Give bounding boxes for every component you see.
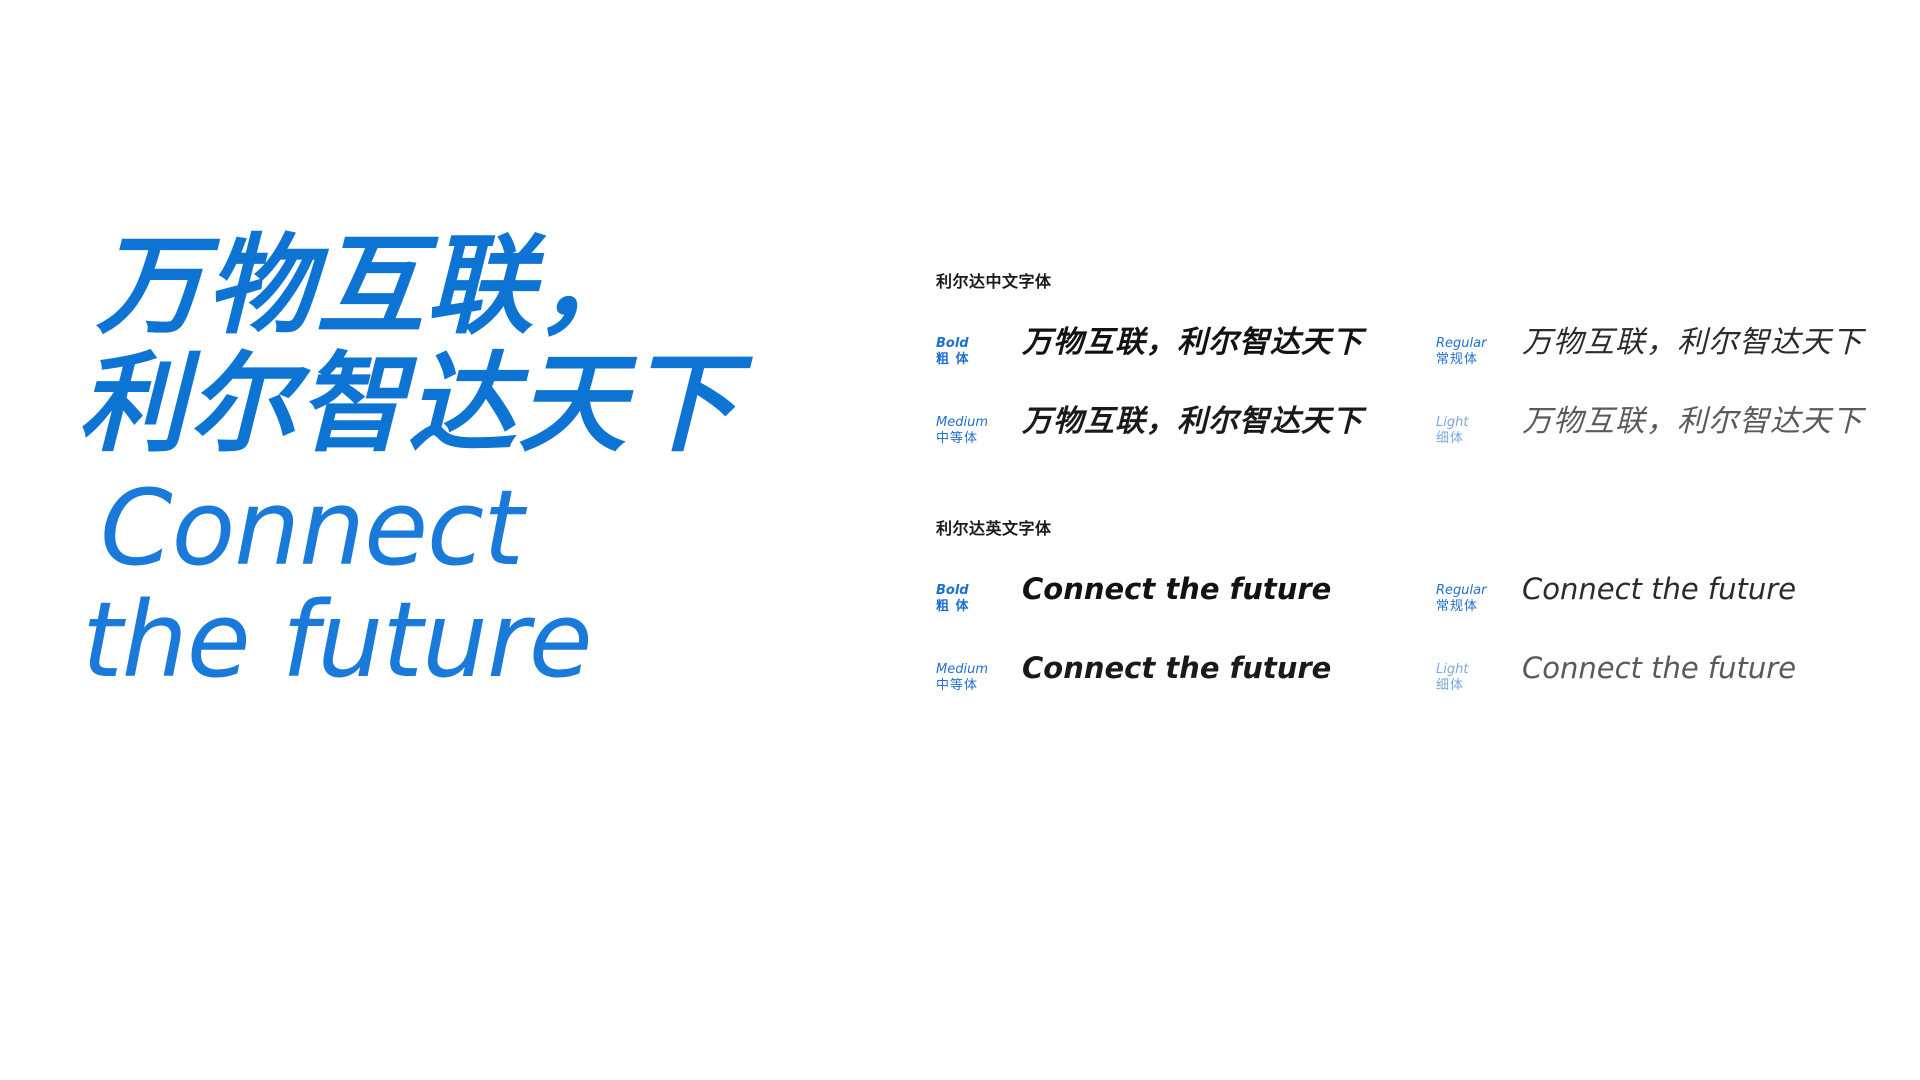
type-specimen-panel: 利尔达中文字体 Bold 粗 体 万物互联，利尔智达天下 Regular 常规体… [936, 268, 1866, 694]
hero-lockup: 万物互联， 利尔智达天下 Connect the future [96, 228, 886, 696]
hero-english-line-1: Connect [100, 472, 886, 584]
weight-label-en-text: Medium [936, 415, 1008, 431]
sample-text-en-bold: Connect the future [1022, 575, 1331, 604]
weight-label-en-text: Regular [1436, 336, 1508, 352]
weight-label-cn-text: 细体 [1436, 431, 1508, 447]
specimen-row-en-bold: Bold 粗 体 Connect the future [936, 575, 1436, 616]
weight-label-cn-text: 常规体 [1436, 352, 1508, 368]
specimen-grid-english: Bold 粗 体 Connect the future Regular 常规体 … [936, 575, 1866, 694]
weight-label-en-text: Regular [1436, 583, 1508, 599]
weight-label-cn-light: Light 细体 [1436, 407, 1508, 448]
specimen-row-cn-bold: Bold 粗 体 万物互联，利尔智达天下 [936, 328, 1436, 369]
weight-label-cn-text: 中等体 [936, 678, 1008, 694]
weight-label-en-text: Light [1436, 662, 1508, 678]
specimen-row-cn-regular: Regular 常规体 万物互联，利尔智达天下 [1436, 328, 1866, 369]
sample-text-cn-medium: 万物互联，利尔智达天下 [1022, 407, 1363, 437]
specimen-row-en-regular: Regular 常规体 Connect the future [1436, 575, 1866, 616]
weight-label-en-text: Bold [936, 583, 1008, 599]
specimen-grid-chinese: Bold 粗 体 万物互联，利尔智达天下 Regular 常规体 万物互联，利尔… [936, 328, 1866, 447]
weight-label-en-text: Medium [936, 662, 1008, 678]
hero-english-line-2: the future [82, 584, 886, 696]
specimen-row-en-medium: Medium 中等体 Connect the future [936, 654, 1436, 695]
section-english-typeface: 利尔达英文字体 Bold 粗 体 Connect the future Regu… [936, 515, 1866, 694]
section-chinese-typeface: 利尔达中文字体 Bold 粗 体 万物互联，利尔智达天下 Regular 常规体… [936, 268, 1866, 447]
specimen-row-cn-medium: Medium 中等体 万物互联，利尔智达天下 [936, 407, 1436, 448]
weight-label-cn-text: 细体 [1436, 678, 1508, 694]
specimen-row-en-light: Light 细体 Connect the future [1436, 654, 1866, 695]
sample-text-cn-light: 万物互联，利尔智达天下 [1522, 407, 1863, 437]
weight-label-cn-text: 中等体 [936, 431, 1008, 447]
weight-label-en-text: Bold [936, 336, 1008, 352]
sample-text-en-medium: Connect the future [1022, 654, 1331, 683]
weight-label-cn-bold: Bold 粗 体 [936, 328, 1008, 369]
weight-label-cn-medium: Medium 中等体 [936, 407, 1008, 448]
weight-label-en-regular: Regular 常规体 [1436, 575, 1508, 616]
weight-label-cn-text: 常规体 [1436, 599, 1508, 615]
section-title-english: 利尔达英文字体 [936, 515, 1866, 539]
sample-text-cn-bold: 万物互联，利尔智达天下 [1022, 328, 1363, 358]
weight-label-cn-text: 粗 体 [936, 352, 1008, 368]
specimen-row-cn-light: Light 细体 万物互联，利尔智达天下 [1436, 407, 1866, 448]
hero-chinese-line-1: 万物互联， [96, 228, 886, 346]
weight-label-en-bold: Bold 粗 体 [936, 575, 1008, 616]
section-title-chinese: 利尔达中文字体 [936, 268, 1866, 292]
sample-text-cn-regular: 万物互联，利尔智达天下 [1522, 328, 1863, 358]
sample-text-en-light: Connect the future [1522, 654, 1796, 683]
weight-label-cn-regular: Regular 常规体 [1436, 328, 1508, 369]
weight-label-en-medium: Medium 中等体 [936, 654, 1008, 695]
weight-label-en-text: Light [1436, 415, 1508, 431]
weight-label-cn-text: 粗 体 [936, 599, 1008, 615]
sample-text-en-regular: Connect the future [1522, 575, 1796, 604]
hero-chinese-line-2: 利尔智达天下 [78, 346, 886, 464]
weight-label-en-light: Light 细体 [1436, 654, 1508, 695]
